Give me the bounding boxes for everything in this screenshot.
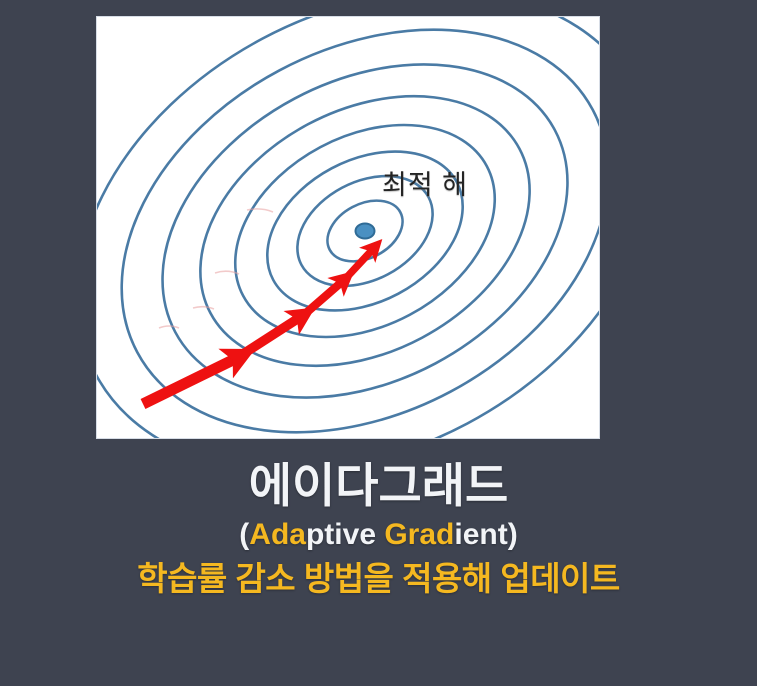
subtitle-part-ient-close: ient) (454, 518, 517, 551)
contour-level-6 (105, 17, 599, 438)
caption-block: 에이다그래드 (Adaptive Gradient) 학습률 감소 방법을 적용… (0, 462, 757, 599)
description-line: 학습률 감소 방법을 적용해 업데이트 (0, 559, 757, 599)
contour-plot-svg (97, 17, 599, 438)
subtitle-part-grad: Grad (384, 518, 454, 551)
slide-root: 최적 해 에이다그래드 (Adaptive Gradient) 학습률 감소 방… (0, 0, 757, 686)
descent-arrow-3 (306, 280, 344, 313)
contour-figure-panel: 최적 해 (97, 17, 599, 438)
subtitle-part-ptive: ptive (306, 518, 384, 551)
descent-arrow-2 (243, 316, 302, 354)
optimum-point-marker (356, 224, 375, 239)
subtitle-english: (Adaptive Gradient) (0, 516, 757, 554)
subtitle-part-ada: Ada (249, 518, 306, 551)
optimum-solution-label: 최적 해 (345, 163, 505, 202)
contour-lines-group (97, 17, 599, 438)
residual-marks-group (159, 209, 273, 328)
subtitle-part-open-paren: ( (239, 518, 249, 551)
page-title: 에이다그래드 (0, 462, 757, 510)
gradient-descent-arrows-group (143, 248, 374, 404)
